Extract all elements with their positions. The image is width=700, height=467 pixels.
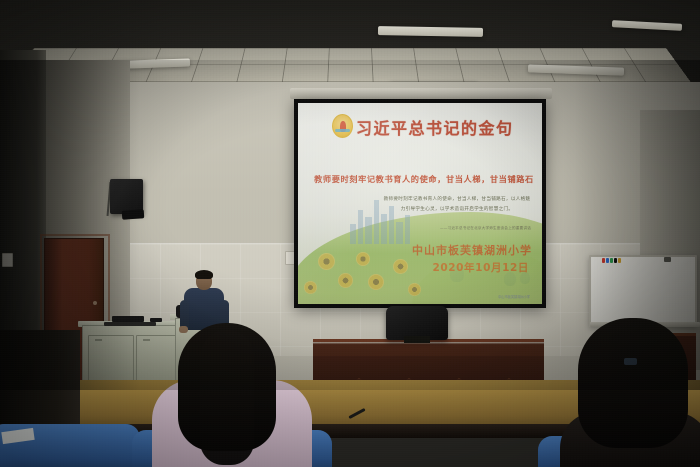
screen-roller-housing [290,88,552,99]
sunflower-7 [304,281,317,294]
emblem-band [335,129,350,132]
marker-black[interactable] [614,258,617,263]
school-emblem-icon [332,114,353,138]
sunflower-4 [368,274,384,290]
slide-quote: 教师要时刻牢记教书育人的使命，甘当人梯，甘当铺路石 [312,173,536,185]
wall-outlet-left [2,253,13,267]
speaker-bracket [122,209,145,220]
audience-right-hair-clip [624,358,637,365]
office-chair[interactable] [386,306,448,340]
marker-blue[interactable] [606,258,609,263]
cabinet-door-left[interactable] [88,335,134,383]
ceiling-light-2 [378,26,483,37]
cabinet-handle-left[interactable] [95,339,102,341]
presenter-hand-left [179,326,188,333]
slide-footer: 中山市板芙镇湖洲小学 [498,294,530,299]
slide-body-text: 教师要时刻牢记教书育人的使命，甘当人梯，甘当铺路石，以人格魅力引导学生心灵，以学… [382,195,532,214]
whiteboard [589,255,697,327]
projector-remote[interactable] [150,318,162,322]
marker-yellow[interactable] [618,258,621,263]
sunflower-1 [318,253,335,270]
projection-screen-frame: 习近平总书记的金句 教师要时刻牢记教书育人的使命，甘当人梯，甘当铺路石 教师要时… [294,99,546,308]
projection-screen: 习近平总书记的金句 教师要时刻牢记教书育人的使命，甘当人梯，甘当铺路石 教师要时… [298,103,542,304]
slide-title: 习近平总书记的金句 [356,115,514,139]
slide-school-name: 中山市板芙镇湖洲小学 [412,242,532,258]
slide-attribution: ——习近平总书记在北京大学师生座谈会上的重要讲话 [391,226,531,231]
office-chair-base [404,336,430,343]
audience-right-hair [578,318,688,448]
audience-left-hair-strand [200,330,254,465]
sunflower-2 [338,273,353,288]
door-knob-icon [93,301,97,305]
whiteboard-eraser[interactable] [664,257,671,262]
marker-green[interactable] [610,258,613,263]
cabinet-handle-right[interactable] [143,339,150,341]
marker-red[interactable] [602,258,605,263]
presenter-glasses-icon [197,278,211,282]
sunflower-6 [408,283,421,296]
sunflower-3 [356,252,370,266]
sunflower-5 [393,259,408,274]
lecture-hall-photo: 习近平总书记的金句 教师要时刻牢记教书育人的使命，甘当人梯，甘当铺路石 教师要时… [0,0,700,467]
slide-date: 2020年10月12日 [432,260,529,275]
control-panel [104,322,156,326]
